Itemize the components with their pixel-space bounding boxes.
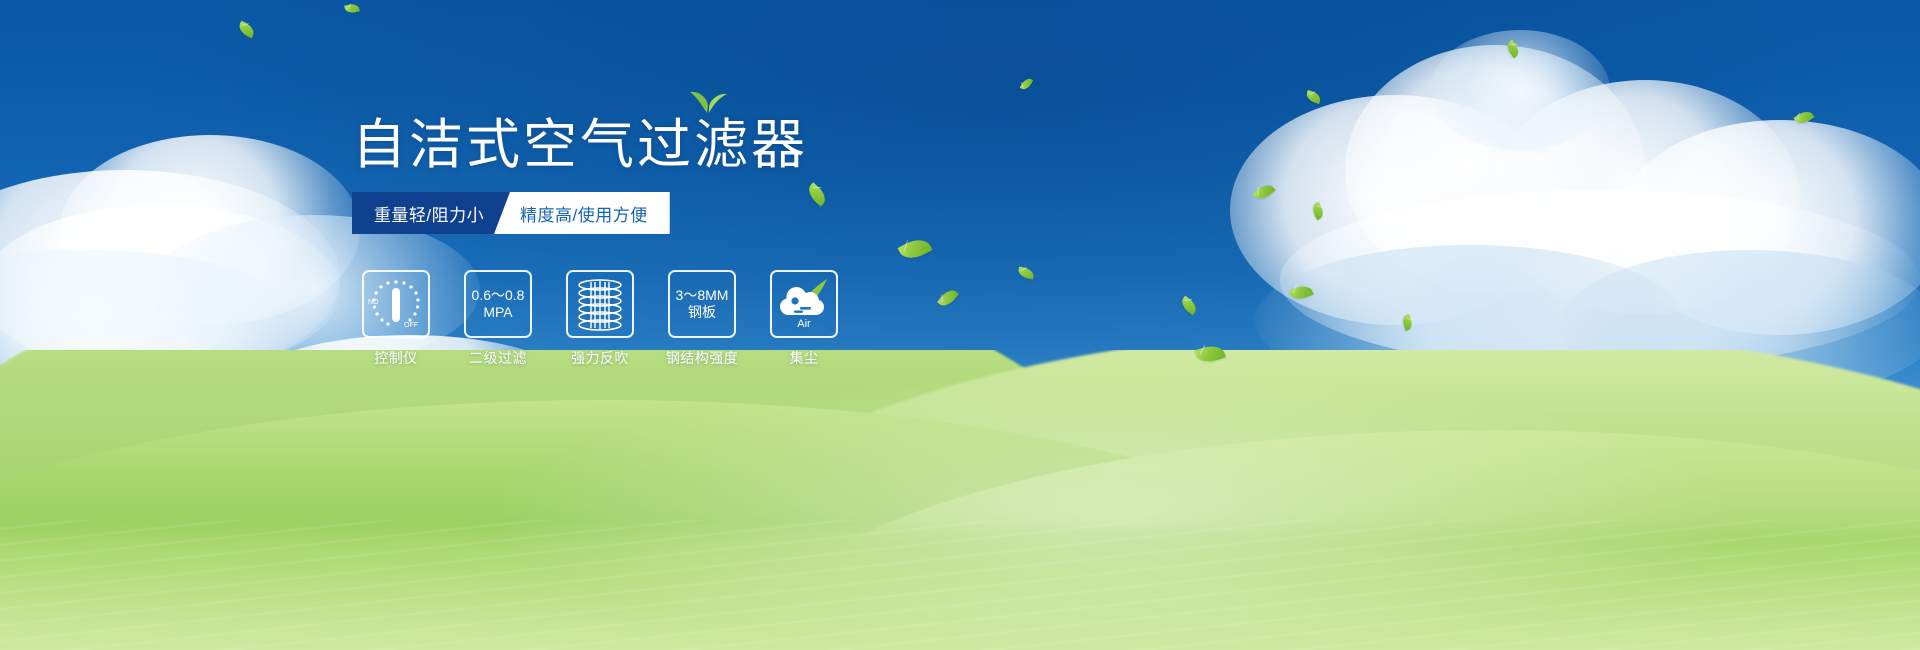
feature-icon-box: 3～8MM 钢板 bbox=[668, 270, 736, 338]
dial-no-label: NO bbox=[368, 299, 379, 306]
steel-thickness-line: 3～8MM bbox=[676, 287, 729, 304]
hero-banner: 自洁式空气过滤器 重量轻/阻力小 精度高/使用方便 bbox=[0, 0, 1920, 650]
feature-label: 强力反吹 bbox=[571, 348, 629, 368]
feature-icon-box bbox=[566, 270, 634, 338]
feature-label: 二级过滤 bbox=[469, 348, 527, 368]
pressure-range-line: 0.6～0.8 bbox=[472, 287, 525, 304]
pressure-text-icon: 0.6～0.8 MPA bbox=[472, 287, 525, 321]
feature-item-steel-strength[interactable]: 3～8MM 钢板 钢结构强度 bbox=[662, 270, 742, 368]
feature-item-two-stage-filter[interactable]: 0.6～0.8 MPA 二级过滤 bbox=[458, 270, 538, 368]
tab-weight-resistance[interactable]: 重量轻/阻力小 bbox=[352, 192, 510, 234]
feature-item-dust-collection[interactable]: Air 集尘 bbox=[764, 270, 844, 368]
feature-item-backblow[interactable]: 强力反吹 bbox=[560, 270, 640, 368]
feature-tabs: 重量轻/阻力小 精度高/使用方便 bbox=[352, 192, 670, 234]
feature-icon-box: NO OFF bbox=[362, 270, 430, 338]
leaf-decoration-icon bbox=[688, 90, 728, 114]
title-block: 自洁式空气过滤器 bbox=[352, 118, 808, 172]
filter-cartridge-icon bbox=[573, 276, 627, 332]
feature-label: 集尘 bbox=[790, 348, 819, 368]
air-label: Air bbox=[797, 318, 811, 330]
pressure-unit-line: MPA bbox=[472, 304, 525, 321]
dial-off-label: OFF bbox=[404, 322, 418, 329]
air-cloud-icon: Air bbox=[775, 277, 833, 331]
tab-precision-convenience[interactable]: 精度高/使用方便 bbox=[494, 192, 670, 234]
steel-plate-text-icon: 3～8MM 钢板 bbox=[676, 287, 729, 321]
feature-icon-box: Air bbox=[770, 270, 838, 338]
page-title: 自洁式空气过滤器 bbox=[352, 118, 808, 172]
steel-material-line: 钢板 bbox=[676, 304, 729, 321]
feature-icon-row: NO OFF 控制仪 0.6～0.8 MPA 二级过滤 bbox=[356, 270, 844, 368]
feature-label: 钢结构强度 bbox=[666, 348, 739, 368]
dial-gauge-icon: NO OFF bbox=[366, 274, 426, 334]
feature-icon-box: 0.6～0.8 MPA bbox=[464, 270, 532, 338]
feature-item-controller[interactable]: NO OFF 控制仪 bbox=[356, 270, 436, 368]
feature-label: 控制仪 bbox=[374, 348, 418, 368]
